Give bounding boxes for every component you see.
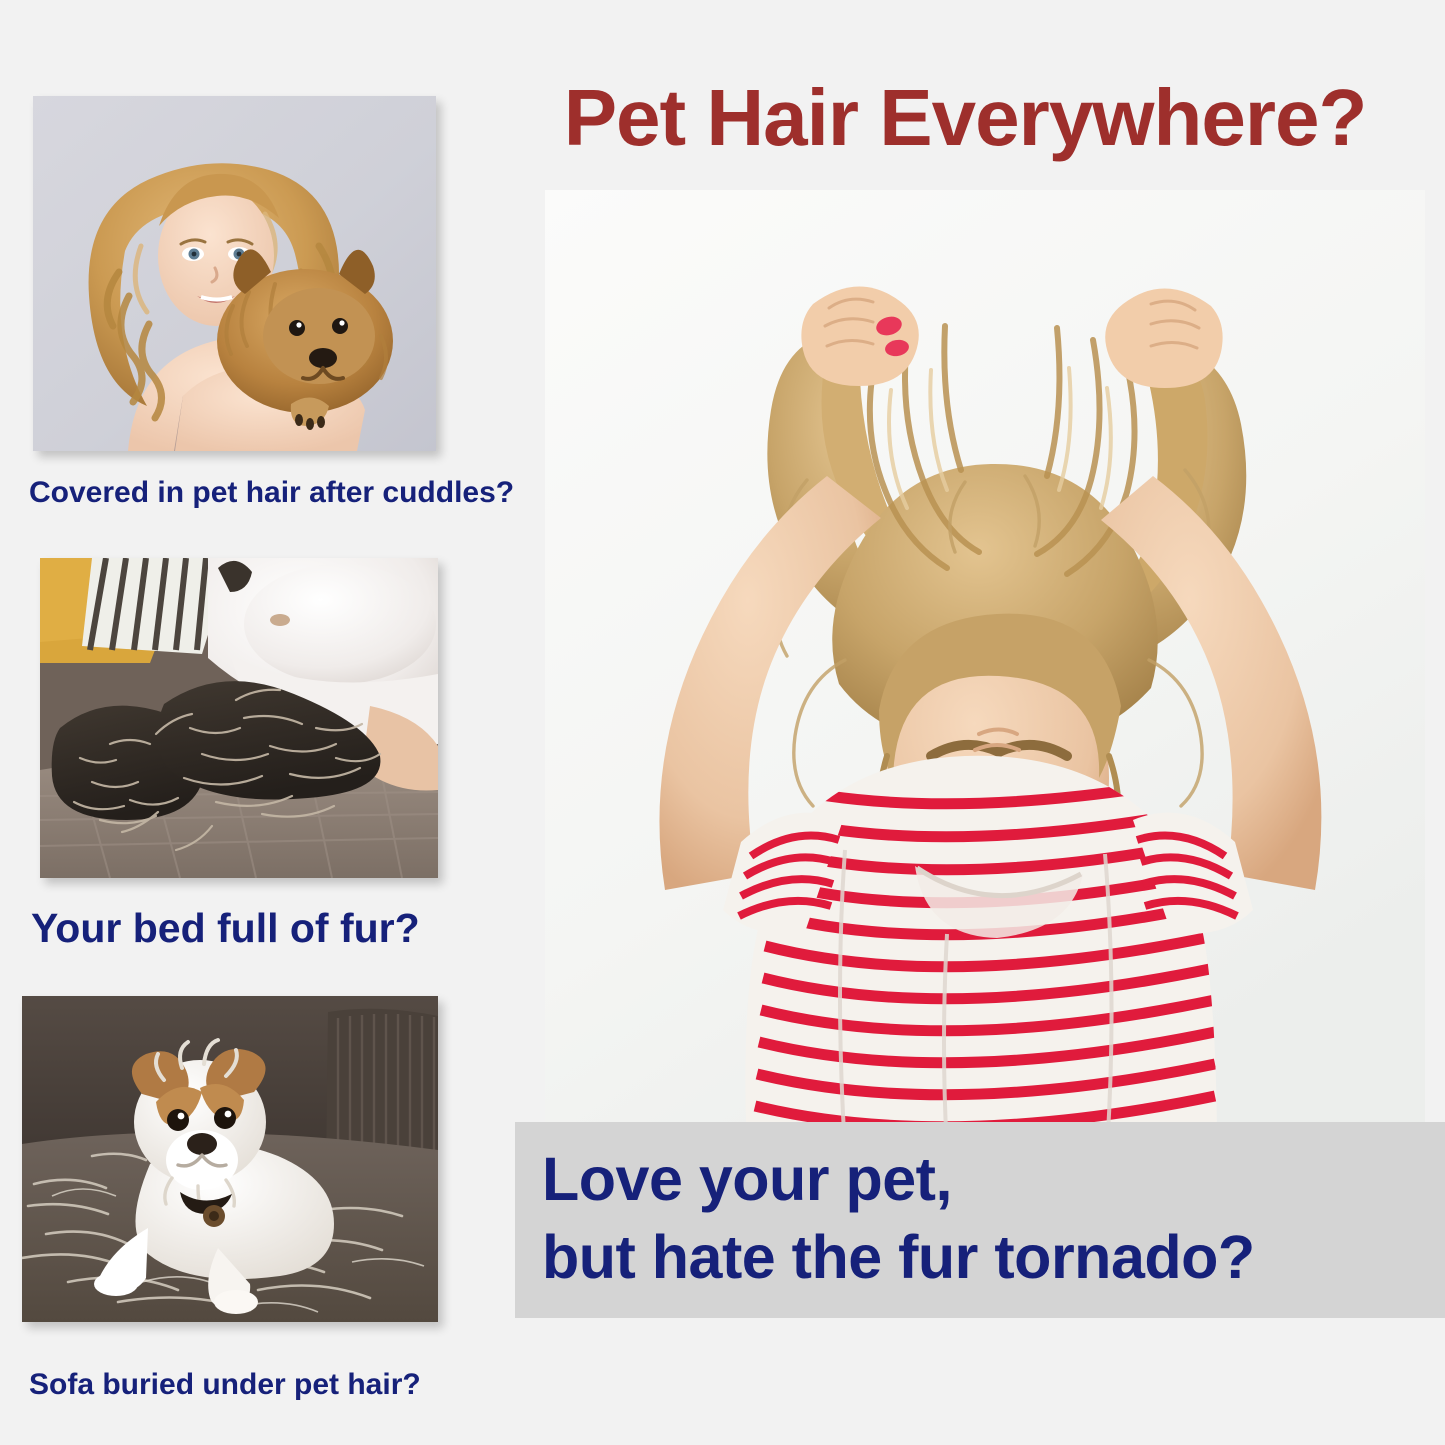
tagline-line-2: but hate the fur tornado? xyxy=(542,1218,1445,1296)
frustrated-woman-pulling-hair-photo xyxy=(545,190,1425,1150)
tagline-banner: Love your pet, but hate the fur tornado? xyxy=(515,1122,1445,1318)
caption-covered-in-pet-hair: Covered in pet hair after cuddles? xyxy=(29,478,514,508)
frustrated-woman-illustration xyxy=(545,190,1425,1150)
dog-on-sofa-photo xyxy=(22,996,438,1322)
girl-hugging-yorkie-photo xyxy=(33,96,436,451)
socks-covered-in-fur-photo xyxy=(40,558,438,878)
dog-on-sofa-illustration xyxy=(22,996,438,1322)
poster-canvas: Pet Hair Everywhere? xyxy=(0,0,1445,1445)
page-title: Pet Hair Everywhere? xyxy=(500,78,1430,158)
caption-your-bed-full-of-fur: Your bed full of fur? xyxy=(31,908,420,949)
caption-sofa-buried-under-pet-hair: Sofa buried under pet hair? xyxy=(29,1370,421,1400)
girl-hugging-yorkie-illustration xyxy=(33,96,436,451)
tagline-line-1: Love your pet, xyxy=(542,1140,1445,1218)
socks-covered-in-fur-illustration xyxy=(40,558,438,878)
